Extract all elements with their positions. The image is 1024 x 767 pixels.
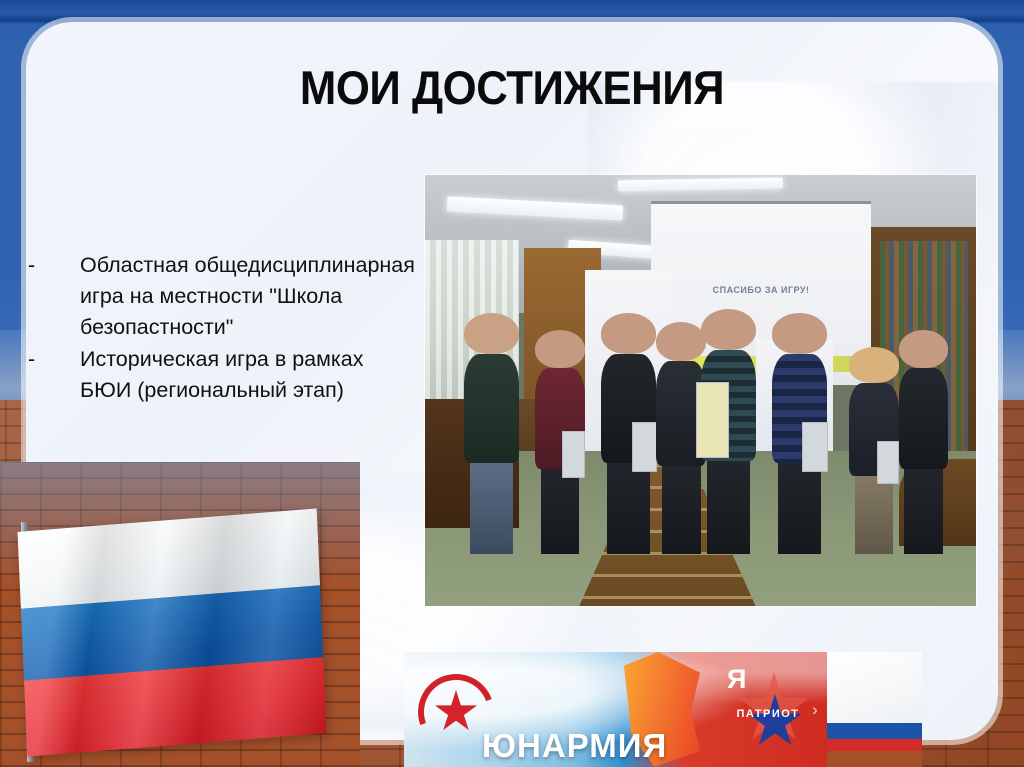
side-flag-band-blue (827, 723, 922, 739)
patriot-ya-label: Я (727, 664, 746, 695)
list-item: - Историческая игра в рамках БЮИ (регион… (28, 344, 418, 406)
photo-person-legs (607, 463, 650, 555)
achievement-photo: СПАСИБО ЗА ИГРУ! (425, 175, 976, 606)
photo-person (601, 313, 656, 554)
photo-person-head (535, 330, 585, 368)
achievements-list: - Областная общедисциплинарная игра на м… (28, 250, 418, 407)
side-flag-brick (827, 751, 922, 767)
photo-person-head (899, 330, 949, 368)
patriot-word-label: ПАТРИОТ (725, 708, 811, 720)
flag-fold-shading (17, 508, 326, 756)
photo-person-legs (662, 466, 701, 554)
photo-person-legs (904, 469, 943, 554)
photo-certificate (802, 422, 827, 472)
top-blue-band (0, 0, 1024, 24)
photo-person-legs (778, 463, 821, 555)
photo-person-body (899, 368, 949, 469)
photo-person-head (601, 313, 656, 354)
photo-person (464, 313, 519, 554)
photo-certificate (696, 382, 729, 458)
ya-patriot-logo: Я ПАТРИОТ (721, 664, 813, 760)
list-item: - Областная общедисциплинарная игра на м… (28, 250, 418, 343)
photo-person-head (849, 347, 899, 382)
photo-person-legs (707, 461, 750, 554)
photo-person-head (656, 322, 706, 362)
photo-person-body (464, 354, 519, 463)
photo-person-head (701, 309, 756, 351)
side-flag-band-red (827, 739, 922, 751)
photo-certificate (562, 431, 585, 478)
carousel-next-icon[interactable]: › (805, 700, 825, 720)
carousel-prev-icon[interactable]: ‹ (406, 700, 426, 720)
bullet-marker: - (28, 250, 80, 281)
bullet-marker: - (28, 344, 80, 375)
photo-person (772, 313, 827, 554)
bullet-text: Областная общедисциплинарная игра на мес… (80, 250, 418, 343)
photo-person-legs (541, 469, 580, 554)
photo-person-head (772, 313, 827, 354)
flag-cloth (17, 508, 326, 756)
photo-certificate (632, 422, 657, 472)
russian-flag (0, 462, 360, 767)
bullet-text: Историческая игра в рамках БЮИ (регионал… (80, 344, 418, 406)
page-title: МОИ ДОСТИЖЕНИЯ (36, 60, 988, 115)
photo-person-legs (855, 476, 894, 555)
side-flag-image (827, 652, 922, 767)
photo-certificate (877, 441, 900, 484)
side-flag-band-white (827, 652, 922, 723)
presentation-slide: МОИ ДОСТИЖЕНИЯ - Областная общедисциплин… (0, 0, 1024, 767)
photo-person (535, 330, 585, 554)
photo-person-head (464, 313, 519, 354)
banner-title: ЮНАРМИЯ (482, 727, 667, 765)
photo-person (849, 347, 899, 554)
yunarmiya-banner[interactable]: ЮНАРМИЯ Я ПАТРИОТ ‹ › (404, 652, 827, 767)
photo-person (701, 309, 756, 555)
projector-screen-text: СПАСИБО ЗА ИГРУ! (651, 285, 871, 295)
photo-person (899, 330, 949, 554)
photo-person-legs (470, 463, 513, 555)
